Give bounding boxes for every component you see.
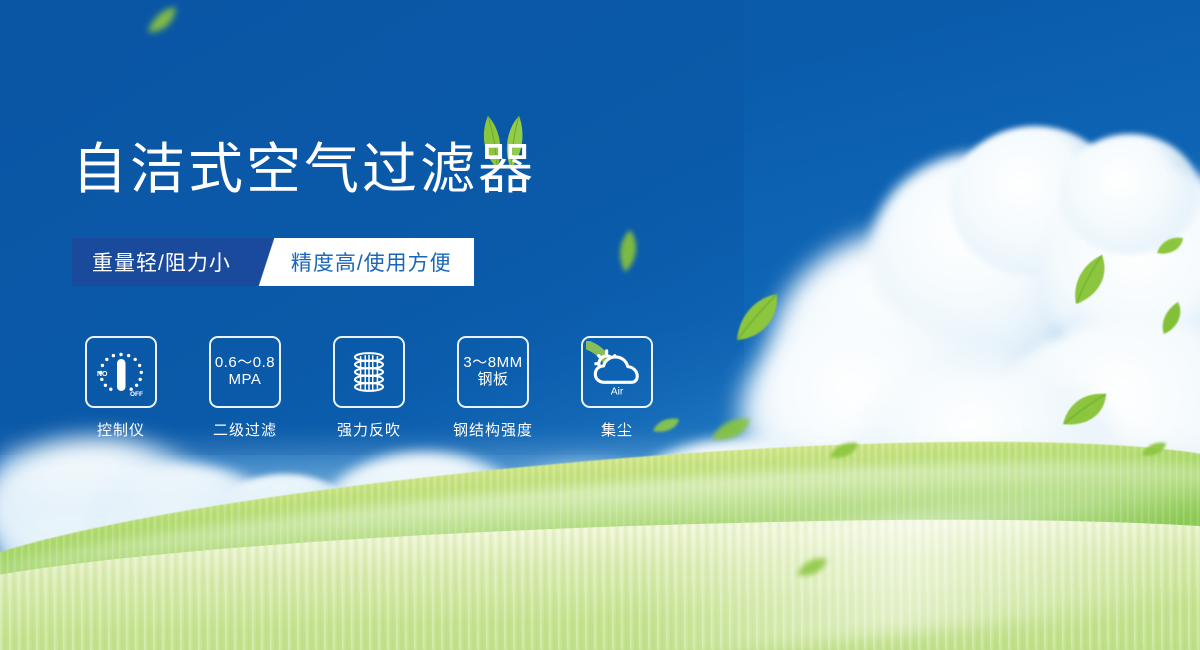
feature-caption: 强力反吹	[337, 419, 401, 440]
page-title: 自洁式空气过滤器	[72, 142, 536, 197]
grass-field	[0, 420, 1200, 650]
feature-caption: 二级过滤	[213, 419, 277, 440]
gauge-label-no: NO	[97, 371, 108, 378]
gauge-label-off: OFF	[130, 391, 143, 398]
feature-icon-box	[333, 336, 405, 408]
subtitle-bar: 重量轻/阻力小 精度高/使用方便	[72, 238, 474, 286]
feature-icon-box: 3～8MM 钢板	[457, 336, 529, 408]
feature-list: NO OFF 控制仪 0.6～0.8 MPA 二级过滤	[72, 336, 666, 440]
feature-caption: 钢结构强度	[453, 419, 533, 440]
feature-item-backblow[interactable]: 强力反吹	[320, 336, 418, 440]
subtitle-divider	[253, 238, 287, 286]
steel-plate-icon: 3～8MM 钢板	[463, 355, 522, 389]
feature-caption: 控制仪	[97, 419, 145, 440]
steel-thickness-line: 3～8MM	[463, 355, 522, 372]
filter-cartridge-icon	[341, 344, 397, 400]
feature-icon-box: 0.6～0.8 MPA	[209, 336, 281, 408]
feature-item-pressure[interactable]: 0.6～0.8 MPA 二级过滤	[196, 336, 294, 440]
feature-item-dust[interactable]: Air 集尘	[568, 336, 666, 440]
cloud-air-icon: Air	[586, 341, 648, 403]
feature-item-control-gauge[interactable]: NO OFF 控制仪	[72, 336, 170, 440]
subtitle-right: 精度高/使用方便	[287, 238, 474, 286]
subtitle-left: 重量轻/阻力小	[72, 238, 253, 286]
air-label: Air	[611, 387, 624, 398]
feature-icon-box: Air	[581, 336, 653, 408]
feature-icon-box: NO OFF	[85, 336, 157, 408]
pressure-unit-line: MPA	[215, 372, 275, 389]
feature-item-steel[interactable]: 3～8MM 钢板 钢结构强度	[444, 336, 542, 440]
steel-material-line: 钢板	[463, 372, 522, 389]
gauge-dial-icon: NO OFF	[91, 342, 151, 402]
pressure-value-icon: 0.6～0.8 MPA	[215, 355, 275, 389]
feature-caption: 集尘	[601, 419, 633, 440]
pressure-range-line: 0.6～0.8	[215, 355, 275, 372]
product-banner: 自洁式空气过滤器 重量轻/阻力小 精度高/使用方便	[0, 0, 1200, 650]
